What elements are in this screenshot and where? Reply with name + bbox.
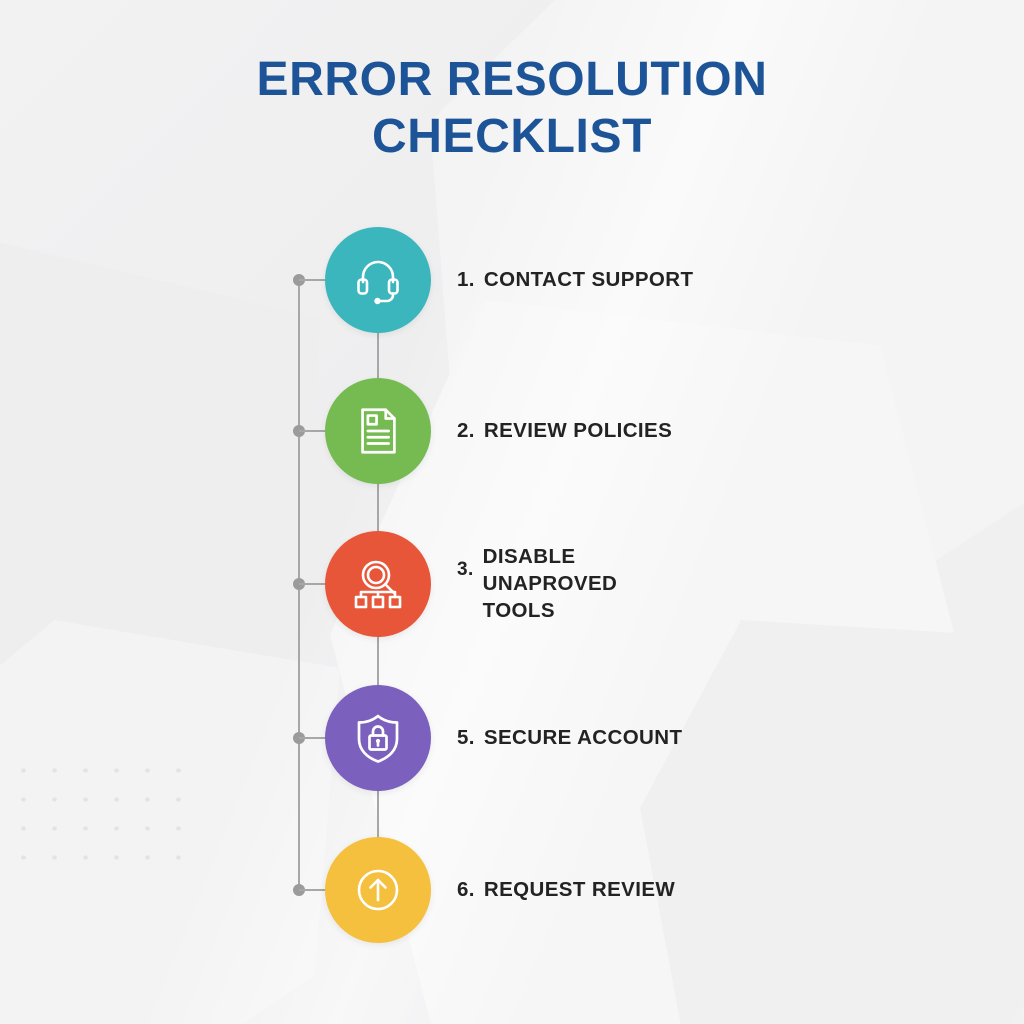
step-label-2: 2. REVIEW POLICIES — [457, 417, 977, 444]
step-number-5: 6. — [457, 876, 475, 903]
hexagon-shape-c — [0, 240, 320, 800]
title-line-1: ERROR RESOLUTION — [0, 52, 1024, 107]
step-label-4: 5. SECURE ACCOUNT — [457, 724, 977, 751]
step-label-1: 1. CONTACT SUPPORT — [457, 266, 977, 293]
infographic-canvas: ERROR RESOLUTION CHECKLIST 1. CONTACT SU… — [0, 0, 1024, 1024]
step-icon-badge-2[interactable] — [325, 378, 431, 484]
arrow-up-circle-icon — [350, 862, 406, 918]
page-title: ERROR RESOLUTION CHECKLIST — [0, 52, 1024, 164]
step-text-5: REQUEST REVIEW — [484, 876, 675, 903]
step-label-3: 3. DISABLE UNAPROVED TOOLS — [457, 543, 977, 624]
step-number-1: 1. — [457, 266, 475, 293]
step-label-5: 6. REQUEST REVIEW — [457, 876, 977, 903]
dot-grid-pattern — [8, 756, 198, 874]
step-text-4: SECURE ACCOUNT — [484, 724, 682, 751]
step-text-2: REVIEW POLICIES — [484, 417, 672, 444]
step-number-2: 2. — [457, 417, 475, 444]
hexagon-shape-d — [0, 620, 340, 1024]
magnifier-hierarchy-icon — [349, 555, 407, 613]
step-text-3: DISABLE UNAPROVED TOOLS — [483, 543, 643, 624]
step-number-3: 3. — [457, 543, 474, 583]
step-connector-2-3 — [377, 484, 379, 531]
step-connector-4-5 — [377, 791, 379, 838]
step-icon-badge-3[interactable] — [325, 531, 431, 637]
document-icon — [351, 404, 405, 458]
step-icon-badge-5[interactable] — [325, 837, 431, 943]
step-connector-3-4 — [377, 637, 379, 685]
step-connector-1-2 — [377, 333, 379, 381]
step-icon-badge-4[interactable] — [325, 685, 431, 791]
title-line-2: CHECKLIST — [0, 109, 1024, 164]
step-number-4: 5. — [457, 724, 475, 751]
step-icon-badge-1[interactable] — [325, 227, 431, 333]
headset-icon — [350, 252, 406, 308]
hexagon-shape-e — [640, 620, 1024, 1024]
shield-lock-icon — [350, 710, 406, 766]
step-text-1: CONTACT SUPPORT — [484, 266, 693, 293]
